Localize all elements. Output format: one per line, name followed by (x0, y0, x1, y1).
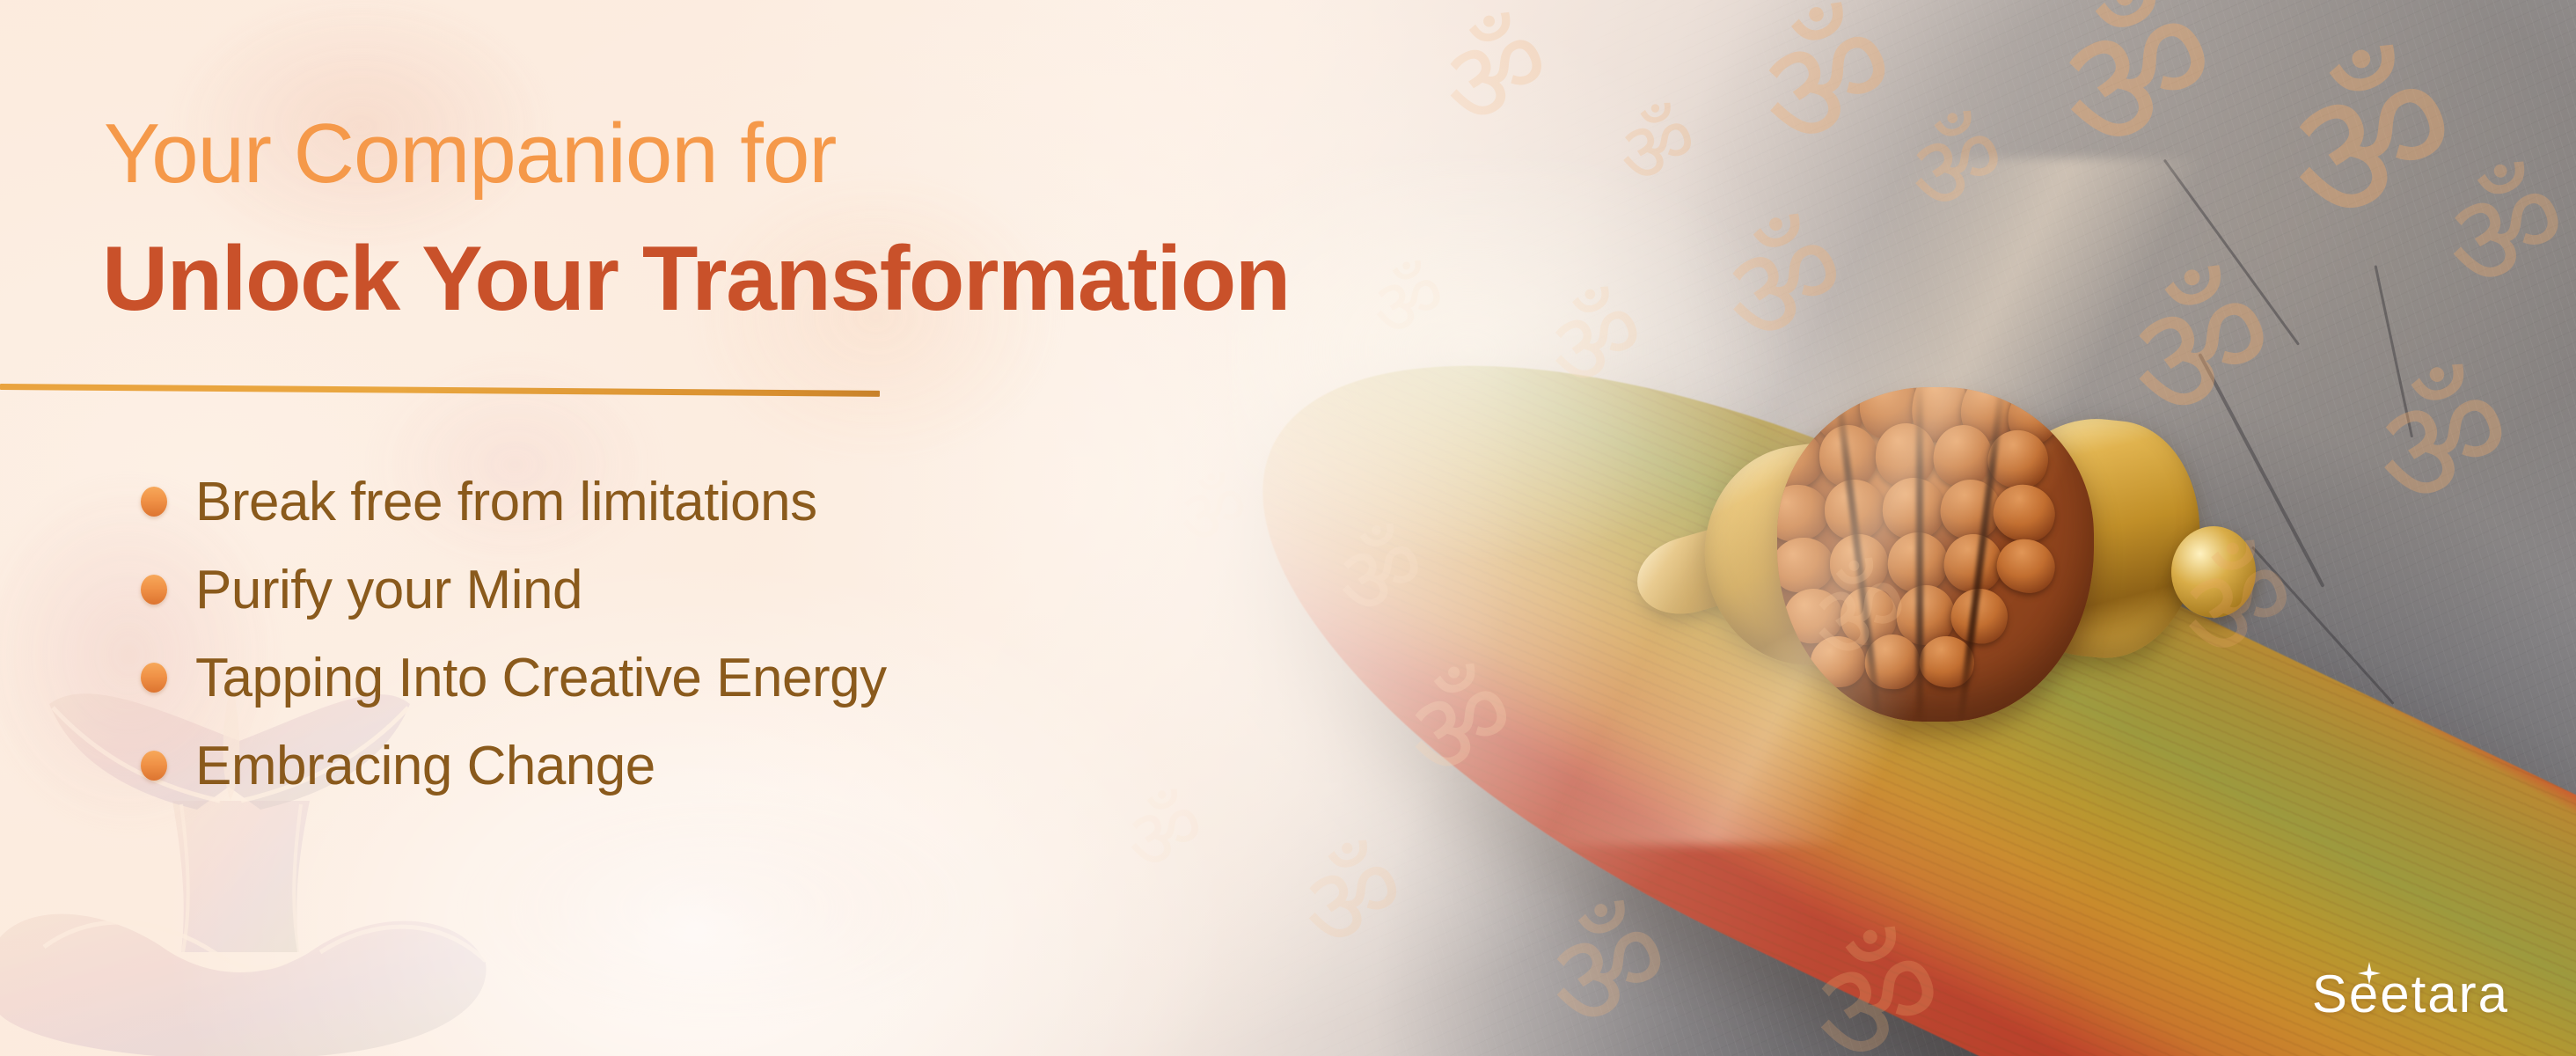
headline-top: Your Companion for (104, 106, 836, 202)
list-item: Embracing Change (141, 722, 887, 810)
benefits-list: Break free from limitationsPurify your M… (141, 458, 887, 810)
list-item: Purify your Mind (141, 546, 887, 634)
bullet-dot-icon (141, 663, 167, 693)
list-item-label: Break free from limitations (195, 471, 817, 533)
page-title: Unlock Your Transformation (102, 227, 1290, 332)
divider (0, 384, 880, 397)
bullet-dot-icon (141, 487, 167, 517)
brand-logo[interactable]: Seetara (2312, 964, 2509, 1024)
list-item-label: Purify your Mind (195, 559, 582, 621)
list-item: Tapping Into Creative Energy (141, 634, 887, 722)
bullet-dot-icon (141, 575, 167, 605)
list-item-label: Tapping Into Creative Energy (195, 647, 887, 709)
promo-banner: ॐॐॐॐॐॐॐॐॐॐॐॐॐॐॐॐॐॐॐॐॐ (0, 0, 2576, 1056)
list-item-label: Embracing Change (195, 735, 655, 797)
brand-name: Seetara (2312, 964, 2509, 1024)
list-item: Break free from limitations (141, 458, 887, 546)
banner-content: Your Companion for Unlock Your Transform… (0, 0, 1232, 1056)
bullet-dot-icon (141, 751, 167, 781)
